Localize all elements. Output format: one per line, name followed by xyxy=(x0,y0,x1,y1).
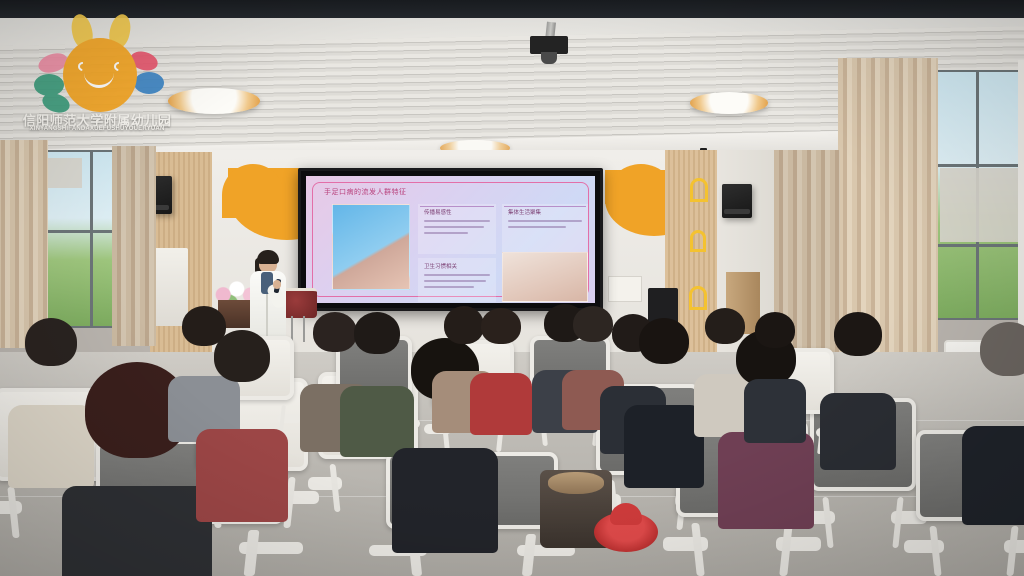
attendee xyxy=(820,312,896,452)
person-head xyxy=(755,312,795,348)
petal-icon xyxy=(134,72,164,94)
projector-icon xyxy=(541,52,557,64)
slide-text-line xyxy=(424,232,468,234)
presenter-hair xyxy=(257,250,279,264)
slide-rule xyxy=(504,206,586,207)
slide-text-line xyxy=(424,226,484,228)
person-head xyxy=(25,318,77,366)
slide-card-heading: 卫生习惯相关 xyxy=(424,262,457,270)
person-torso xyxy=(962,426,1024,525)
slide-text-line xyxy=(424,280,486,282)
person-torso xyxy=(470,373,532,435)
slide-photo-hand-palm xyxy=(332,204,410,290)
arch-decoration xyxy=(690,178,708,202)
person-torso xyxy=(718,432,814,529)
watermark-logo: 信阳师范大学附属幼儿园 XINYANGSHIFANDAXUEFUSHUYOUER… xyxy=(18,10,176,134)
window-right xyxy=(936,70,1020,320)
slide-text-line xyxy=(424,274,490,276)
window-wall-right xyxy=(1018,60,1024,360)
attendee xyxy=(470,308,532,420)
slide-photo-hand-back xyxy=(502,252,588,302)
slide-title: 手足口病的流发人群特征 xyxy=(324,187,407,197)
person-head xyxy=(481,308,521,344)
wall-speaker-icon xyxy=(722,184,752,218)
person-torso xyxy=(624,405,704,488)
slide-text-line xyxy=(424,220,490,222)
slide-text-line xyxy=(424,286,474,288)
person-head xyxy=(980,322,1024,376)
person-head xyxy=(639,318,689,364)
person-torso xyxy=(744,379,806,443)
person-torso xyxy=(820,393,896,470)
slide-card-heading: 集体生活聚集 xyxy=(508,208,541,216)
person-head xyxy=(834,312,882,356)
presenter-hand xyxy=(273,280,281,289)
pendant-light xyxy=(168,88,260,114)
attendee xyxy=(962,322,1024,502)
person-torso xyxy=(196,429,288,523)
pendant-light xyxy=(690,92,768,114)
slide-text-line xyxy=(508,226,566,228)
institution-name-pinyin: XINYANGSHIFANDAXUEFUSHUYOUERYUAN xyxy=(18,126,176,132)
wall-poster xyxy=(608,276,642,302)
person-torso xyxy=(62,486,212,576)
photo-scene: 手足口病的流发人群特征 传播易感性 集体生活聚集 卫生习惯相关 xyxy=(0,0,1024,576)
arch-decoration xyxy=(689,286,707,310)
red-sun-hat xyxy=(594,512,658,552)
person-head xyxy=(214,330,270,382)
attendee xyxy=(196,330,288,500)
slide-rule xyxy=(420,206,494,207)
attendee xyxy=(624,318,704,468)
curtain-left-outer xyxy=(0,140,48,348)
arch-decoration xyxy=(690,230,706,252)
attendee xyxy=(744,312,806,428)
woven-basket xyxy=(548,472,604,494)
slide-card-heading: 传播易感性 xyxy=(424,208,452,216)
slide-text-line xyxy=(508,220,582,222)
chair-leg xyxy=(521,534,536,576)
person-torso xyxy=(392,448,498,553)
curtain-left-inner xyxy=(112,146,156,346)
slide-content: 手足口病的流发人群特征 传播易感性 集体生活聚集 卫生习惯相关 xyxy=(306,176,595,303)
presentation-screen[interactable]: 手足口病的流发人群特征 传播易感性 集体生活聚集 卫生习惯相关 xyxy=(298,168,603,311)
